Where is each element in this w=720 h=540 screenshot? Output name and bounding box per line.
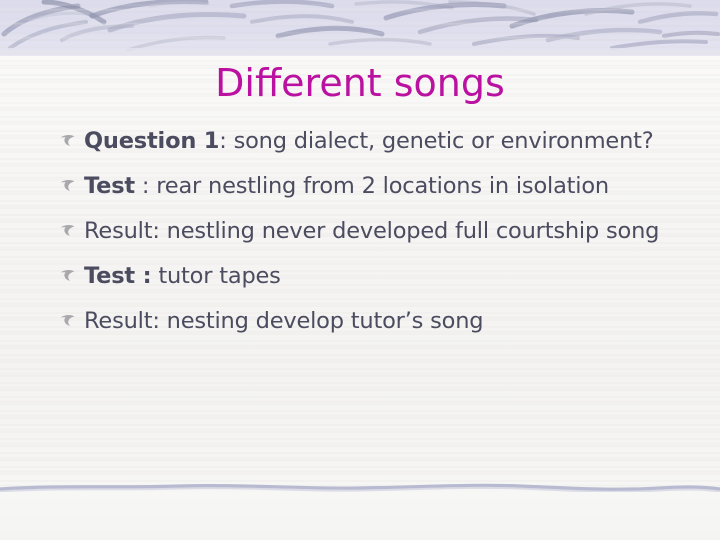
list-item: Question 1: song dialect, genetic or env…	[58, 126, 690, 157]
header-decoration-band	[0, 0, 720, 56]
list-item-text: Result: nesting develop tutor’s song	[84, 306, 690, 337]
list-item-rest: Result: nesting develop tutor’s song	[84, 308, 483, 334]
list-item: Test : rear nestling from 2 locations in…	[58, 171, 690, 202]
list-item-text: Result: nestling never developed full co…	[84, 216, 690, 247]
slide: Different songs Question 1: song dialect…	[0, 0, 720, 540]
list-item-rest: Result: nestling never developed full co…	[84, 218, 659, 244]
list-item-text: Test : tutor tapes	[84, 261, 690, 292]
list-item-rest: : song dialect, genetic or environment?	[219, 128, 653, 154]
list-item: Result: nestling never developed full co…	[58, 216, 690, 247]
list-item-text: Test : rear nestling from 2 locations in…	[84, 171, 690, 202]
band-fade	[0, 48, 720, 56]
comma-swoosh-bullet-icon	[58, 306, 84, 332]
comma-swoosh-bullet-icon	[58, 126, 84, 152]
list-item-text: Question 1: song dialect, genetic or env…	[84, 126, 690, 157]
list-item-rest: tutor tapes	[151, 263, 280, 289]
list-item-rest: : rear nestling from 2 locations in isol…	[135, 173, 609, 199]
comma-swoosh-bullet-icon	[58, 261, 84, 287]
page-title: Different songs	[0, 60, 720, 106]
list-item-bold: Test	[84, 173, 135, 199]
comma-swoosh-bullet-icon	[58, 216, 84, 242]
bullet-list: Question 1: song dialect, genetic or env…	[58, 126, 690, 351]
comma-swoosh-bullet-icon	[58, 171, 84, 197]
list-item: Result: nesting develop tutor’s song	[58, 306, 690, 337]
list-item-bold: Question 1	[84, 128, 219, 154]
footer-area	[0, 492, 720, 540]
list-item: Test : tutor tapes	[58, 261, 690, 292]
list-item-bold: Test :	[84, 263, 151, 289]
